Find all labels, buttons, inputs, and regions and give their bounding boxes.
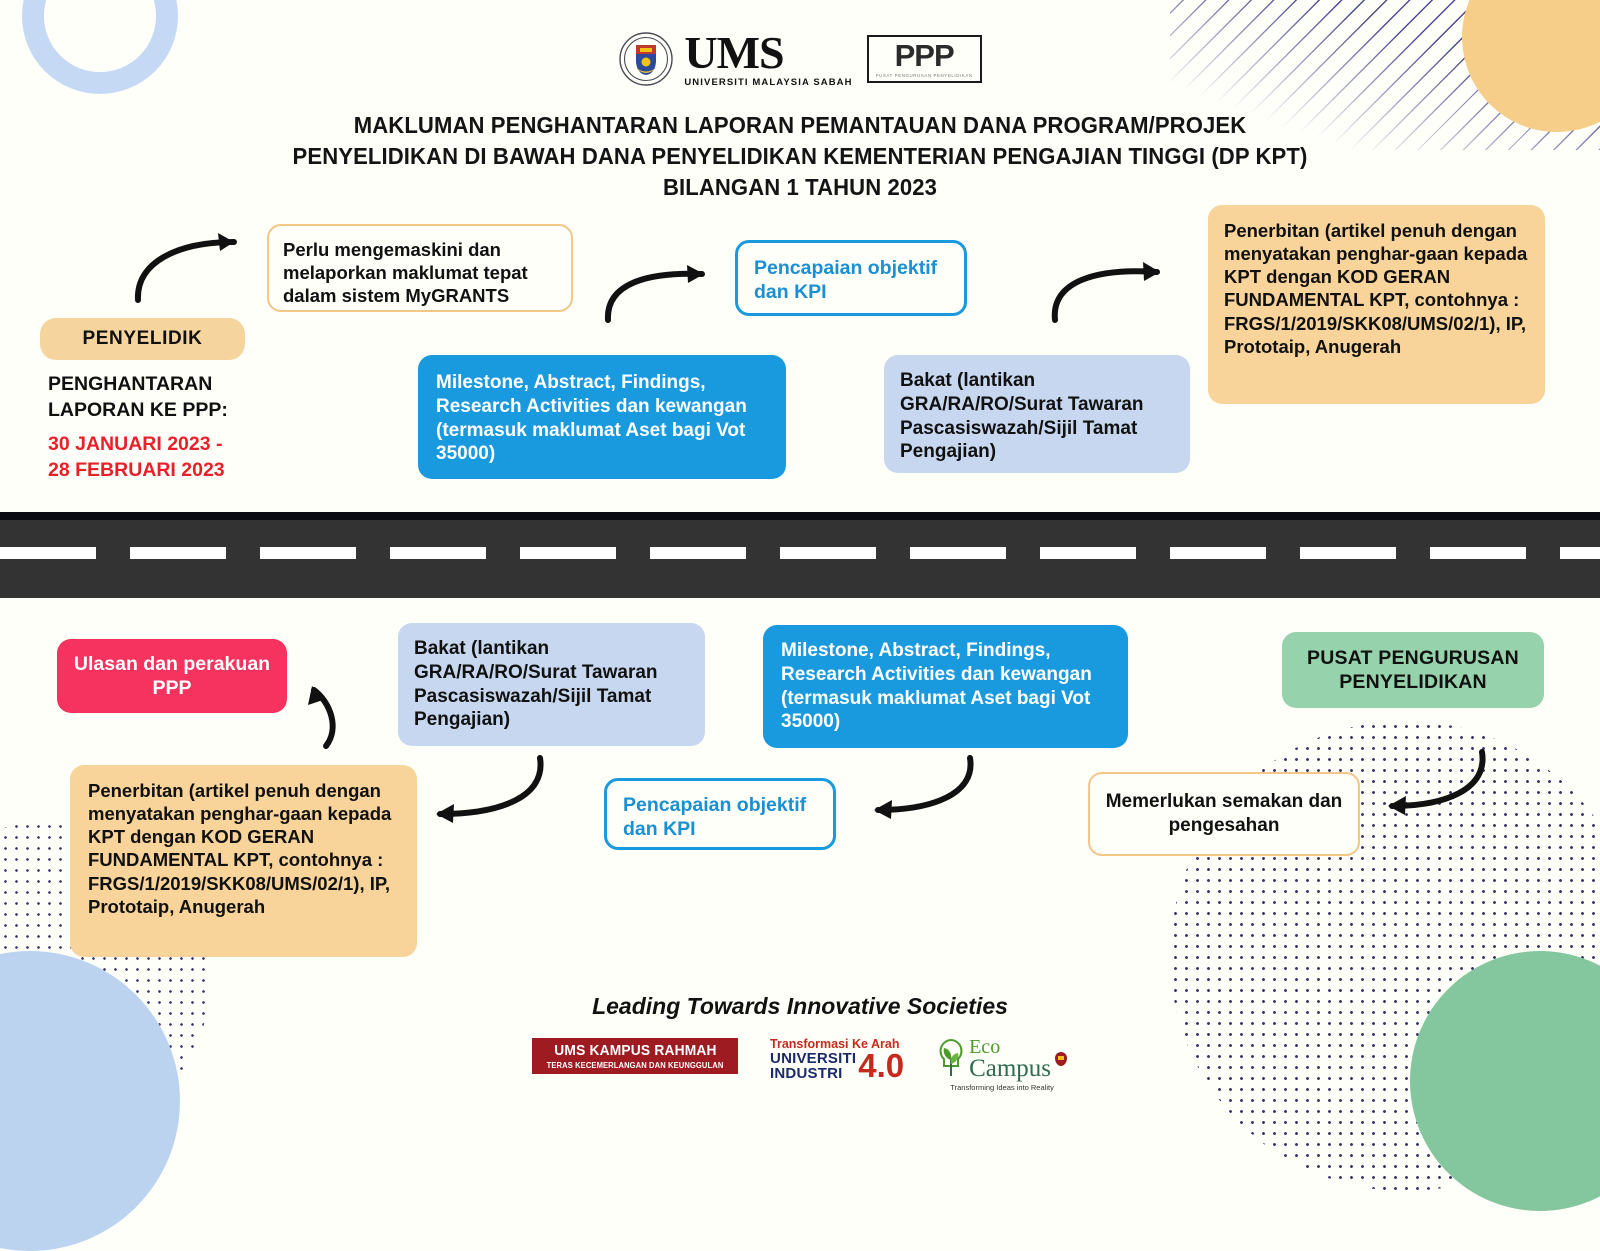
ums-wordmark: UMS <box>684 30 852 76</box>
arrow-to-mygrants <box>130 228 260 308</box>
ums-subtitle: UNIVERSITI MALAYSIA SABAH <box>684 78 852 88</box>
box-milestone-bottom: Milestone, Abstract, Findings, Research … <box>763 625 1128 748</box>
universiti-industri-40-logo: Transformasi Ke Arah UNIVERSITI INDUSTRI… <box>770 1038 904 1082</box>
title-line-1: MAKLUMAN PENGHANTARAN LAPORAN PEMANTAUAN… <box>48 110 1552 141</box>
industri-word-1: UNIVERSITI <box>770 1051 856 1067</box>
eco-word-1: Eco <box>969 1038 1051 1056</box>
submission-dates: 30 JANUARI 2023 - 28 FEBRUARI 2023 <box>48 432 303 483</box>
ppp-logo: PPP PUSAT PENGURUSAN PENYELIDIKAN <box>867 35 982 83</box>
arrow-kpi-to-penerbitan <box>1045 252 1185 334</box>
eco-crest-icon <box>1054 1051 1068 1067</box>
box-milestone-top: Milestone, Abstract, Findings, Research … <box>418 355 786 479</box>
eco-campus-logo: Eco Campus Transforming Ideas into Reali… <box>936 1038 1068 1092</box>
arrow-up-to-ulasan <box>296 672 356 752</box>
arrow-bakat-to-penerbitan <box>418 752 558 832</box>
box-mygrants: Perlu mengemaskini dan melaporkan maklum… <box>267 224 573 312</box>
rahmah-subtitle: TERAS KECEMERLANGAN DAN KEUNGGULAN <box>547 1061 724 1070</box>
box-ulasan: Ulasan dan perakuan PPP <box>57 639 287 713</box>
header-logos: UMS UNIVERSITI MALAYSIA SABAH PPP PUSAT … <box>0 30 1600 88</box>
page-title: MAKLUMAN PENGHANTARAN LAPORAN PEMANTAUAN… <box>48 110 1552 203</box>
ums-logo: UMS UNIVERSITI MALAYSIA SABAH <box>618 30 852 88</box>
box-semakan: Memerlukan semakan dan pengesahan <box>1088 772 1360 856</box>
ums-kampus-rahmah-logo: UMS KAMPUS RAHMAH TERAS KECEMERLANGAN DA… <box>532 1038 738 1074</box>
industri-word-2: INDUSTRI <box>770 1066 856 1082</box>
penyelidik-badge: PENYELIDIK <box>40 318 245 360</box>
arrow-mygrants-to-kpi <box>600 258 730 338</box>
eco-tagline: Transforming Ideas into Reality <box>950 1083 1054 1092</box>
box-kpi-top: Pencapaian objektif dan KPI <box>735 240 967 316</box>
title-line-3: BILANGAN 1 TAHUN 2023 <box>48 172 1552 203</box>
industri-version: 4.0 <box>858 1052 904 1080</box>
footer-tagline: Leading Towards Innovative Societies <box>0 993 1600 1020</box>
infographic-canvas: UMS UNIVERSITI MALAYSIA SABAH PPP PUSAT … <box>0 0 1600 1131</box>
arrow-milestone-to-kpi <box>858 752 988 832</box>
submission-label: PENGHANTARAN LAPORAN KE PPP: <box>48 372 298 423</box>
ppp-wordmark: PPP <box>895 42 954 70</box>
road-top-edge <box>0 512 1600 520</box>
box-kpi-bottom: Pencapaian objektif dan KPI <box>604 778 836 850</box>
road-lane-dashes <box>0 547 1600 559</box>
box-bakat-bottom: Bakat (lantikan GRA/RA/RO/Surat Tawaran … <box>398 623 705 746</box>
footer-logos: UMS KAMPUS RAHMAH TERAS KECEMERLANGAN DA… <box>0 1038 1600 1092</box>
ums-crest-icon <box>618 31 674 87</box>
box-bakat-top: Bakat (lantikan GRA/RA/RO/Surat Tawaran … <box>884 355 1190 473</box>
rahmah-title: UMS KAMPUS RAHMAH <box>554 1043 716 1059</box>
box-pusat-pengurusan-penyelidikan: PUSAT PENGURUSAN PENYELIDIKAN <box>1282 632 1544 708</box>
eco-bulb-leaf-icon <box>936 1038 966 1080</box>
arrow-pusat-to-semakan <box>1372 740 1502 820</box>
ppp-subtitle: PUSAT PENGURUSAN PENYELIDIKAN <box>876 73 973 78</box>
box-penerbitan-top: Penerbitan (artikel penuh dengan menyata… <box>1208 205 1545 404</box>
eco-word-2: Campus <box>969 1057 1051 1080</box>
title-line-2: PENYELIDIKAN DI BAWAH DANA PENYELIDIKAN … <box>48 141 1552 172</box>
box-penerbitan-bottom: Penerbitan (artikel penuh dengan menyata… <box>70 765 417 957</box>
